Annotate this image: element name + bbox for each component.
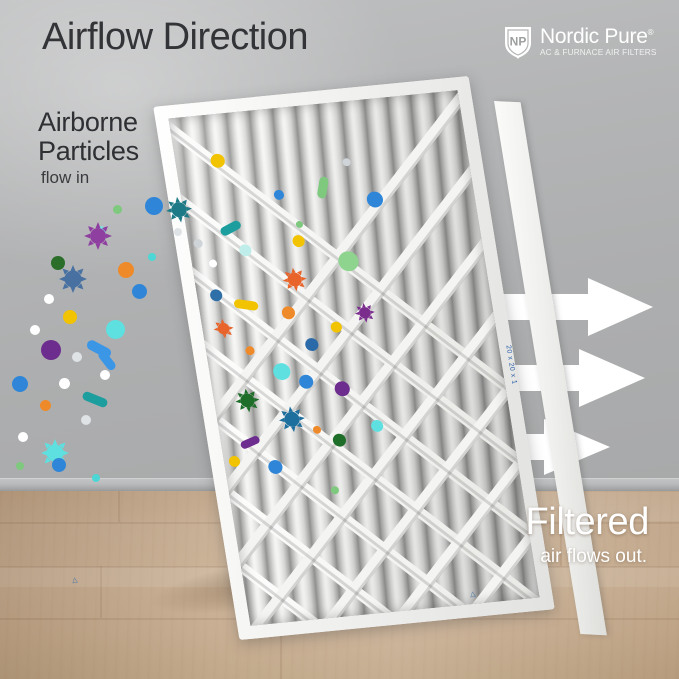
particle-dot bbox=[113, 205, 122, 214]
brand-tagline: AC & FURNACE AIR FILTERS bbox=[540, 49, 657, 57]
particle-spiky bbox=[84, 222, 112, 250]
particle-spiky bbox=[277, 405, 307, 433]
particle-dot bbox=[16, 462, 24, 470]
particle-dot bbox=[132, 284, 147, 299]
brand-name-text: Nordic Pure bbox=[540, 25, 648, 48]
particle-spiky bbox=[212, 318, 235, 340]
particle-dot bbox=[174, 228, 182, 236]
particle-spiky bbox=[234, 388, 262, 414]
particle-dot bbox=[100, 370, 110, 380]
particle-dot bbox=[63, 310, 77, 324]
filter-corner-arrow-mark: △ bbox=[71, 576, 78, 585]
particle-dot bbox=[92, 474, 100, 482]
brand-name: Nordic Pure® bbox=[540, 26, 657, 47]
particle-dot bbox=[72, 352, 82, 362]
svg-text:NP: NP bbox=[510, 35, 527, 49]
page-title: Airflow Direction bbox=[42, 18, 308, 56]
particle-spiky bbox=[58, 264, 88, 294]
particle-dot bbox=[44, 294, 54, 304]
particle-dot bbox=[59, 378, 70, 389]
particle-dot bbox=[18, 432, 28, 442]
airborne-callout-sub: flow in bbox=[41, 168, 89, 188]
particle-dot bbox=[40, 400, 51, 411]
particle-spiky bbox=[164, 196, 194, 224]
callout-line-1: Airborne bbox=[38, 108, 139, 137]
infographic-canvas: 20 x 20 x 1 △ △ bbox=[0, 0, 679, 679]
airborne-particles-callout: Airborne Particles bbox=[38, 108, 139, 165]
particle-dot bbox=[148, 253, 156, 261]
particle-dot bbox=[12, 376, 28, 392]
particle-dot bbox=[118, 262, 134, 278]
air-filter-product: 20 x 20 x 1 △ △ bbox=[0, 0, 679, 679]
particle-spiky bbox=[281, 267, 309, 293]
filter-front-face bbox=[153, 76, 554, 640]
registered-mark: ® bbox=[648, 28, 654, 37]
shield-icon: NP bbox=[503, 25, 533, 59]
brand-logo: NP Nordic Pure® AC & FURNACE AIR FILTERS bbox=[503, 23, 663, 61]
particle-dot bbox=[30, 325, 40, 335]
filtered-callout-sub: air flows out. bbox=[540, 546, 647, 568]
particle-spiky bbox=[353, 302, 376, 324]
logo-wordmark: Nordic Pure® AC & FURNACE AIR FILTERS bbox=[540, 26, 657, 57]
filter-corner-arrow-mark: △ bbox=[469, 590, 476, 599]
callout-line-2: Particles bbox=[38, 137, 139, 166]
particle-dot bbox=[81, 415, 91, 425]
particle-dot bbox=[106, 320, 125, 339]
particle-dot bbox=[145, 197, 163, 215]
particle-dot bbox=[52, 458, 66, 472]
filtered-callout: Filtered bbox=[525, 503, 649, 541]
particle-dot bbox=[41, 340, 61, 360]
